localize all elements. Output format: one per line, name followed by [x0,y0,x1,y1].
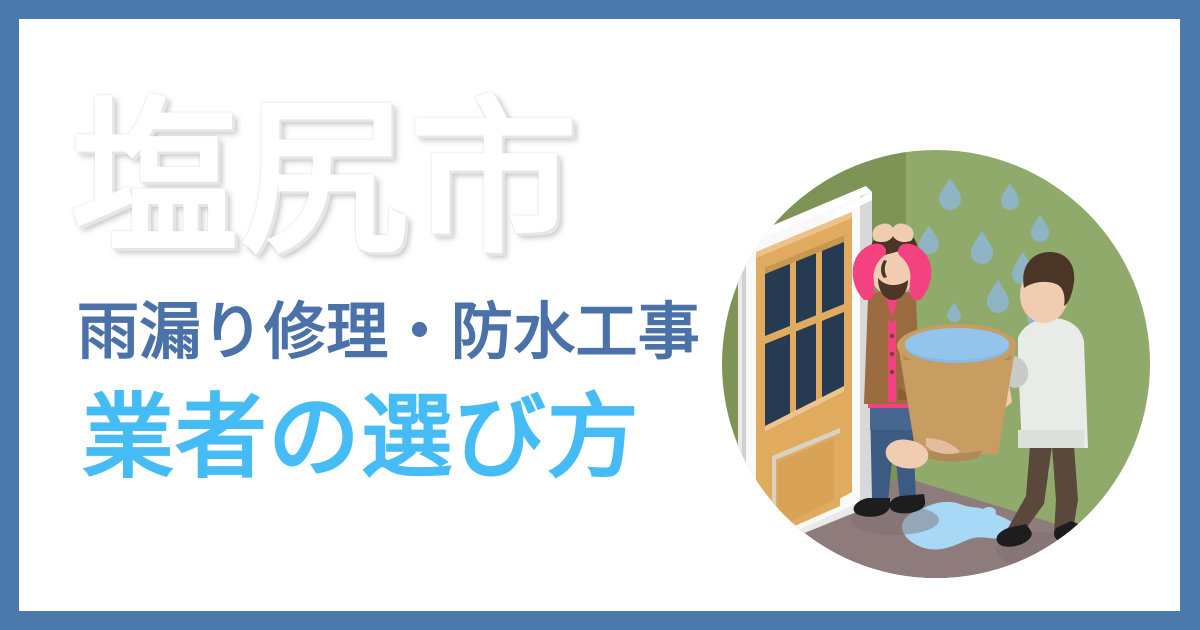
man2-shirt [1018,318,1088,448]
scene-group [712,140,1160,588]
door-mullion-vertical-2 [816,245,822,407]
banner-frame: 塩尻市 雨漏り修理・防水工事 業者の選び方 [0,0,1200,630]
page-title-city: 塩尻市 [70,79,710,279]
man1-vest-button [890,370,894,374]
bucket-water-surface [905,328,1009,360]
puddle-droplet-2 [931,535,949,545]
door-mullion-vertical-1 [790,255,796,418]
banner-inner-canvas: 塩尻市 雨漏り修理・防水工事 業者の選び方 [19,19,1180,611]
headline-text-block: 塩尻市 雨漏り修理・防水工事 業者の選び方 [70,79,720,539]
subtitle-howto: 業者の選び方 [82,379,640,497]
puddle-droplet-1 [982,507,996,517]
bucket-with-water [897,324,1017,461]
man1-shirt-placket [888,318,896,402]
door-panel-trim-left [772,456,776,536]
subtitle-service: 雨漏り修理・防水工事 [77,291,700,375]
roof-leak-scene-svg [712,140,1160,588]
man1-vest-button [890,334,894,338]
man1-vest-button [890,352,894,356]
man2-shirt-hem [1018,430,1084,448]
wooden-door [738,186,872,560]
leak-illustration [712,140,1160,588]
door-jamb-left [742,242,746,559]
